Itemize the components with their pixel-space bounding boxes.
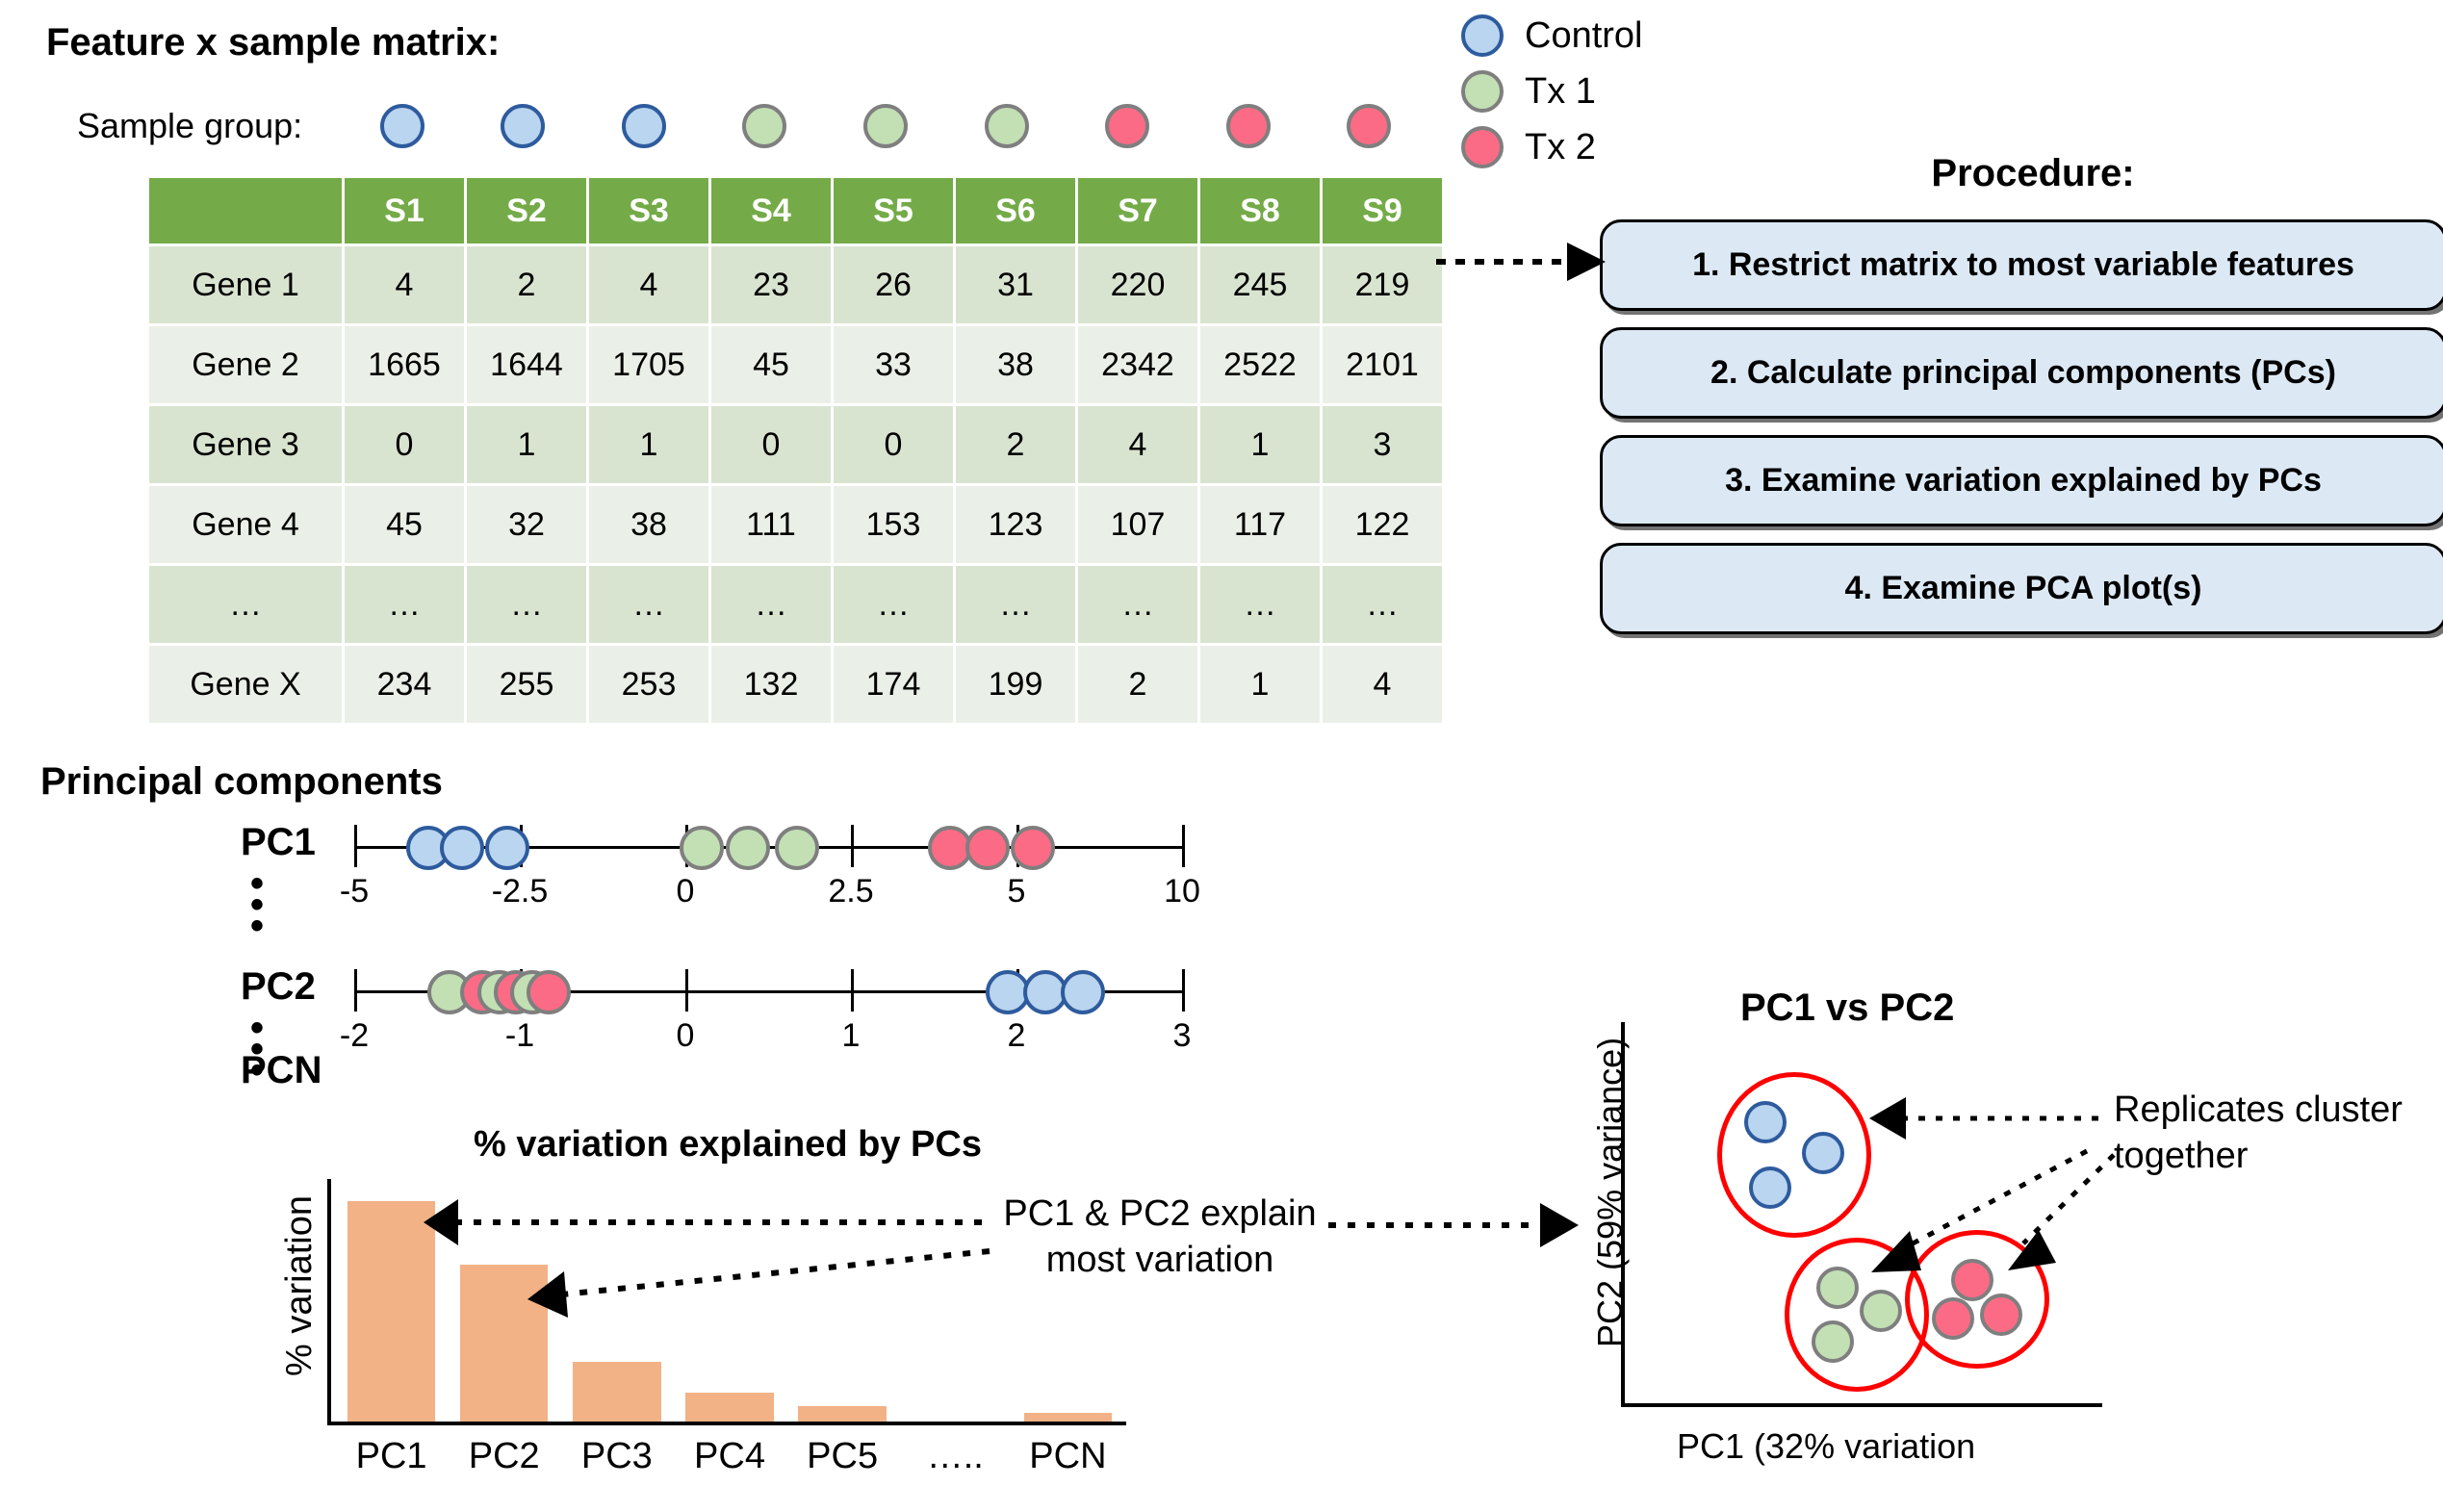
matrix-cell: 2 [1078,646,1197,723]
pca-plot-clusters [1621,1022,2102,1407]
matrix-column-header-s4: S4 [711,178,831,243]
legend-item-tx-1: Tx 1 [1461,64,1643,119]
sample-group-dot-s9 [1347,104,1391,148]
number-line-tick [851,825,854,867]
procedure-step-2[interactable]: 2. Calculate principal components (PCs) [1600,327,2443,419]
matrix-cell: … [1323,566,1442,643]
number-line-point [1011,826,1055,870]
matrix-cell: 123 [956,486,1075,563]
matrix-row: Gene 2166516441705453338234225222101 [149,326,1442,403]
bar-chart-y-axis [327,1179,331,1424]
matrix-cell: 4 [1323,646,1442,723]
bar-chart-title: % variation explained by PCs [474,1124,982,1166]
matrix-cell: 1665 [345,326,464,403]
matrix-cell: 245 [1200,246,1320,323]
matrix-row-label: Gene 1 [149,246,342,323]
sample-group-dot-row [342,104,1429,154]
matrix-cell: … [467,566,586,643]
pca-point-control [1802,1132,1844,1174]
pca-point-tx-2 [1980,1294,2022,1336]
matrix-cell: 255 [467,646,586,723]
matrix-cell: 38 [956,326,1075,403]
pca-point-control [1744,1101,1787,1143]
pca-point-tx-2 [1932,1297,1974,1340]
number-line-tick-label: 2.5 [803,873,899,910]
matrix-cell: 253 [589,646,708,723]
matrix-column-header-s6: S6 [956,178,1075,243]
matrix-cell: 23 [711,246,831,323]
number-line-tick [1182,969,1185,1012]
number-line-tick-label: -1 [472,1017,568,1055]
vertical-ellipsis-icon: ••• [250,873,264,936]
sample-group-dot-s1 [380,104,424,148]
matrix-row: Gene X234255253132174199214 [149,646,1442,723]
matrix-cell: 2101 [1323,326,1442,403]
matrix-column-header-s9: S9 [1323,178,1442,243]
procedure-step-1[interactable]: 1. Restrict matrix to most variable feat… [1600,219,2443,311]
bar-pc4 [685,1393,773,1422]
bar-category-label-pc2: PC2 [448,1436,560,1477]
legend-dot-tx-1 [1461,70,1504,113]
number-line-label-pc1: PC1 [241,821,316,864]
number-line-point [680,826,724,870]
matrix-cell: 199 [956,646,1075,723]
matrix-cell: 234 [345,646,464,723]
matrix-table: S1S2S3S4S5S6S7S8S9Gene 14242326312202452… [146,175,1445,726]
matrix-cell: 174 [834,646,953,723]
matrix-cell: … [711,566,831,643]
number-line-point [1061,970,1105,1014]
matrix-cell: 31 [956,246,1075,323]
matrix-cell: 1644 [467,326,586,403]
pca-point-tx-1 [1860,1290,1902,1332]
pca-plot [1621,1022,2102,1407]
matrix-cell: 45 [711,326,831,403]
matrix-cell: … [834,566,953,643]
number-line-point [965,826,1010,870]
bar-chart-x-axis [327,1422,1126,1425]
sample-group-dot-s4 [742,104,786,148]
matrix-cell: 0 [834,406,953,483]
number-line-label-pc2: PC2 [241,965,316,1009]
pca-point-control [1749,1166,1791,1209]
matrix-cell: 4 [589,246,708,323]
matrix-row: ………………………… [149,566,1442,643]
legend-label: Tx 1 [1525,71,1596,113]
matrix-column-header-s3: S3 [589,178,708,243]
matrix-cell: 219 [1323,246,1442,323]
bar-pc5 [798,1406,886,1422]
matrix-cell: 1 [1200,406,1320,483]
matrix-row: Gene 4453238111153123107117122 [149,486,1442,563]
sample-group-label: Sample group: [77,106,302,146]
matrix-row-label: Gene 4 [149,486,342,563]
feature-sample-matrix: S1S2S3S4S5S6S7S8S9Gene 14242326312202452… [146,175,1445,726]
sample-group-dot-s8 [1226,104,1271,148]
matrix-section-title: Feature x sample matrix: [46,21,500,64]
number-line-tick [685,969,688,1012]
number-line-tick [354,969,357,1012]
matrix-cell: 2 [467,246,586,323]
sample-group-dot-s2 [501,104,545,148]
bar-pc2 [460,1265,548,1422]
matrix-cell: 0 [711,406,831,483]
matrix-column-header-s2: S2 [467,178,586,243]
pcn-label: PCN [241,1049,321,1092]
sample-group-dot-s7 [1105,104,1149,148]
matrix-cell: … [1200,566,1320,643]
number-line-point [527,970,571,1014]
bar-category-label-pc4: PC4 [673,1436,785,1477]
pc1-pc2-explain-annotation: PC1 & PC2 explain most variation [1001,1192,1319,1283]
procedure-step-4[interactable]: 4. Examine PCA plot(s) [1600,543,2443,634]
matrix-cell: 32 [467,486,586,563]
matrix-cell: 2 [956,406,1075,483]
matrix-column-header-s5: S5 [834,178,953,243]
matrix-cell: … [345,566,464,643]
number-line-tick [354,825,357,867]
matrix-cell: 1705 [589,326,708,403]
matrix-row: Gene 3011002413 [149,406,1442,483]
number-line-point [485,826,529,870]
number-line-point [440,826,484,870]
legend-label: Control [1525,15,1643,57]
number-line-tick-label: 10 [1134,873,1230,910]
matrix-cell: 1 [467,406,586,483]
matrix-cell: 38 [589,486,708,563]
matrix-cell: 1 [589,406,708,483]
bar-category-label-pcn: PCN [1012,1436,1124,1477]
sample-group-dot-s3 [622,104,666,148]
matrix-cell: 3 [1323,406,1442,483]
sample-group-legend: ControlTx 1Tx 2 [1461,8,1643,175]
bar-chart-y-axis-label: % variation [279,1195,321,1376]
sample-group-dot-s6 [985,104,1029,148]
matrix-row-label: … [149,566,342,643]
number-line-point [775,826,819,870]
matrix-row-label: Gene X [149,646,342,723]
matrix-cell: 1 [1200,646,1320,723]
matrix-cell: 45 [345,486,464,563]
legend-label: Tx 2 [1525,127,1596,168]
matrix-row: Gene 1424232631220245219 [149,246,1442,323]
matrix-cell: 26 [834,246,953,323]
matrix-column-header-s8: S8 [1200,178,1320,243]
number-line-tick-label: 3 [1134,1017,1230,1055]
bar-category-label-pc1: PC1 [335,1436,448,1477]
matrix-cell: … [956,566,1075,643]
bar-pcn [1024,1413,1112,1422]
number-line-tick [1182,825,1185,867]
procedure-title: Procedure: [1606,152,2443,195]
number-line-tick [851,969,854,1012]
number-line-point [726,826,770,870]
bar-category-label-pc5: PC5 [786,1436,899,1477]
legend-item-control: Control [1461,8,1643,64]
number-line-tick-label: 2 [968,1017,1065,1055]
matrix-cell: 0 [345,406,464,483]
bar-category-label-pc3: PC3 [560,1436,673,1477]
number-line-tick-label: 0 [637,1017,733,1055]
matrix-cell: … [589,566,708,643]
pca-point-tx-1 [1812,1320,1854,1363]
pca-point-tx-1 [1816,1267,1859,1309]
number-line-tick-label: 5 [968,873,1065,910]
number-line-tick-label: -5 [306,873,402,910]
principal-components-title: Principal components [40,760,443,804]
matrix-row-label: Gene 2 [149,326,342,403]
matrix-cell: … [1078,566,1197,643]
pca-cluster-ring-control [1717,1072,1871,1238]
matrix-cell: 4 [1078,406,1197,483]
matrix-cell: 111 [711,486,831,563]
matrix-cell: 132 [711,646,831,723]
matrix-cell: 33 [834,326,953,403]
legend-dot-control [1461,14,1504,57]
matrix-column-header-s7: S7 [1078,178,1197,243]
matrix-cell: 220 [1078,246,1197,323]
bar-pc1 [347,1201,435,1422]
procedure-step-3[interactable]: 3. Examine variation explained by PCs [1600,435,2443,526]
matrix-cell: 122 [1323,486,1442,563]
replicates-cluster-annotation: Replicates cluster together [2114,1088,2431,1179]
matrix-corner-cell [149,178,342,243]
sample-group-dot-s5 [863,104,908,148]
bar-category-label-…..: ….. [899,1436,1012,1477]
legend-dot-tx-2 [1461,126,1504,168]
number-line-tick-label: 1 [803,1017,899,1055]
pca-plot-x-axis-label: PC1 (32% variation [1677,1426,1975,1467]
matrix-cell: 153 [834,486,953,563]
pca-point-tx-2 [1951,1259,1993,1301]
matrix-cell: 117 [1200,486,1320,563]
matrix-cell: 107 [1078,486,1197,563]
number-line-tick-label: 0 [637,873,733,910]
bar-pc3 [573,1362,660,1422]
matrix-row-label: Gene 3 [149,406,342,483]
matrix-cell: 2342 [1078,326,1197,403]
matrix-cell: 4 [345,246,464,323]
matrix-column-header-s1: S1 [345,178,464,243]
principal-component-number-lines: PC1•••-5-2.502.5510PC2•••-2-10123 [231,823,1222,1092]
number-line-tick-label: -2.5 [472,873,568,910]
matrix-cell: 2522 [1200,326,1320,403]
